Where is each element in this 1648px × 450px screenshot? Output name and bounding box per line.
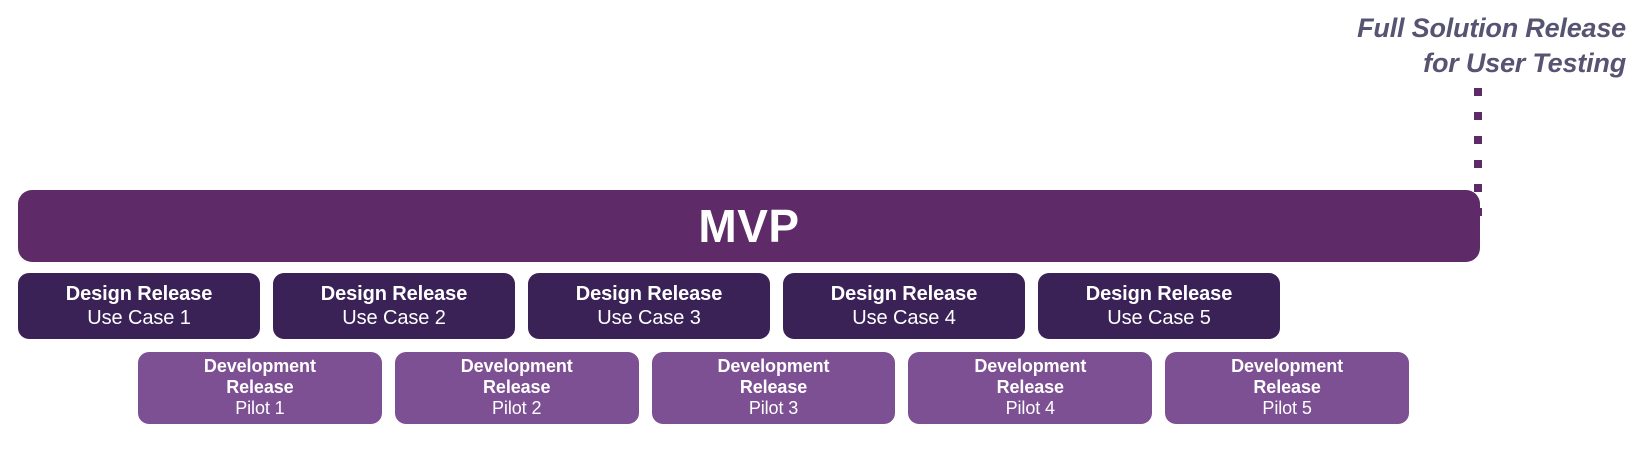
development-release-title-line-1: Development — [974, 356, 1086, 377]
connector-dot — [1474, 88, 1482, 96]
development-release-title-line-2: Release — [997, 377, 1064, 398]
development-release-row: Development Release Pilot 1 Development … — [138, 352, 1409, 424]
design-release-card-2: Design Release Use Case 2 — [273, 273, 515, 339]
design-release-subtitle: Use Case 1 — [87, 306, 191, 330]
development-release-title-line-2: Release — [1253, 377, 1320, 398]
design-release-title: Design Release — [831, 283, 977, 307]
development-release-title-line-1: Development — [204, 356, 316, 377]
development-release-subtitle: Pilot 2 — [492, 398, 541, 420]
design-release-title: Design Release — [321, 283, 467, 307]
development-release-card-2: Development Release Pilot 2 — [395, 352, 639, 424]
development-release-title-line-2: Release — [740, 377, 807, 398]
full-solution-release-annotation: Full Solution Release for User Testing — [1196, 11, 1626, 80]
design-release-card-3: Design Release Use Case 3 — [528, 273, 770, 339]
development-release-subtitle: Pilot 4 — [1006, 398, 1055, 420]
connector-dot — [1474, 184, 1482, 192]
development-release-title-line-1: Development — [461, 356, 573, 377]
release-roadmap-diagram: Full Solution Release for User Testing M… — [0, 0, 1648, 450]
development-release-title-line-1: Development — [1231, 356, 1343, 377]
design-release-card-5: Design Release Use Case 5 — [1038, 273, 1280, 339]
connector-dot — [1474, 160, 1482, 168]
development-release-title-line-1: Development — [718, 356, 830, 377]
development-release-title-line-2: Release — [226, 377, 293, 398]
design-release-card-4: Design Release Use Case 4 — [783, 273, 1025, 339]
development-release-subtitle: Pilot 1 — [235, 398, 284, 420]
development-release-subtitle: Pilot 5 — [1262, 398, 1311, 420]
development-release-title-line-2: Release — [483, 377, 550, 398]
mvp-bar: MVP — [18, 190, 1480, 262]
design-release-subtitle: Use Case 2 — [342, 306, 446, 330]
development-release-card-4: Development Release Pilot 4 — [908, 352, 1152, 424]
mvp-label: MVP — [698, 203, 799, 249]
development-release-card-3: Development Release Pilot 3 — [652, 352, 896, 424]
design-release-subtitle: Use Case 5 — [1107, 306, 1211, 330]
design-release-title: Design Release — [66, 283, 212, 307]
development-release-card-5: Development Release Pilot 5 — [1165, 352, 1409, 424]
development-release-subtitle: Pilot 3 — [749, 398, 798, 420]
development-release-card-1: Development Release Pilot 1 — [138, 352, 382, 424]
annotation-line-2: for User Testing — [1196, 46, 1626, 81]
connector-dot — [1474, 112, 1482, 120]
design-release-subtitle: Use Case 3 — [597, 306, 701, 330]
design-release-row: Design Release Use Case 1 Design Release… — [18, 273, 1280, 339]
connector-dot — [1474, 136, 1482, 144]
design-release-subtitle: Use Case 4 — [852, 306, 956, 330]
annotation-line-1: Full Solution Release — [1196, 11, 1626, 46]
design-release-title: Design Release — [1086, 283, 1232, 307]
design-release-card-1: Design Release Use Case 1 — [18, 273, 260, 339]
design-release-title: Design Release — [576, 283, 722, 307]
